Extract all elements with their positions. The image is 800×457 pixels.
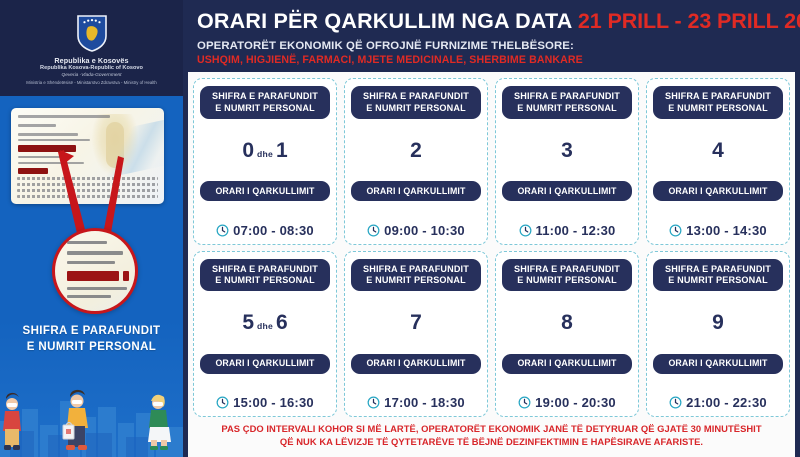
schedule-card: SHIFRA E PARAFUNDITE NUMRIT PERSONAL2ORA… <box>344 78 488 244</box>
code-label-pill: SHIFRA E PARAFUNDITE NUMRIT PERSONAL <box>502 86 632 119</box>
footer-line-2: QË NUK KA LËVIZJE TË QYTETARËVE TË BËJNË… <box>205 435 778 449</box>
digit-first: 7 <box>410 312 422 333</box>
footer-note: PAS ÇDO INTERVALI KOHOR SI MË LARTË, OPE… <box>193 417 790 455</box>
digit-first: 0 <box>242 140 254 161</box>
code-label-line2: E NUMRIT PERSONAL <box>203 275 327 286</box>
gov-ministry-line: Ministria e Shëndetësisë - Ministarstvo … <box>0 80 183 86</box>
code-label-line2: E NUMRIT PERSONAL <box>354 103 478 114</box>
government-logo-block: Republika e Kosovës Republika Kosova-Rep… <box>0 0 183 96</box>
code-label-line1: SHIFRA E PARAFUNDIT <box>505 264 629 275</box>
schedule-label-pill: ORARI I QARKULLIMIT <box>653 354 783 374</box>
code-label-pill: SHIFRA E PARAFUNDITE NUMRIT PERSONAL <box>653 259 783 292</box>
time-row: 19:00 - 20:30 <box>518 393 616 410</box>
sidebar-caption-line2: E NUMRIT PERSONAL <box>0 340 183 356</box>
schedule-label-pill: ORARI I QARKULLIMIT <box>200 181 330 201</box>
time-range: 19:00 - 20:30 <box>535 395 616 410</box>
time-row: 15:00 - 16:30 <box>216 393 314 410</box>
digit-second: 1 <box>276 140 288 161</box>
digit-first: 4 <box>712 140 724 161</box>
digit-group: 8 <box>561 310 573 334</box>
code-label-line1: SHIFRA E PARAFUNDIT <box>505 91 629 102</box>
time-row: 13:00 - 14:30 <box>669 221 767 238</box>
code-label-line2: E NUMRIT PERSONAL <box>354 275 478 286</box>
clock-icon <box>518 396 531 409</box>
code-label-line2: E NUMRIT PERSONAL <box>656 275 780 286</box>
kosovo-id-card-icon <box>11 108 164 204</box>
clock-icon <box>367 224 380 237</box>
schedule-card: SHIFRA E PARAFUNDITE NUMRIT PERSONAL7ORA… <box>344 251 488 417</box>
clock-icon <box>367 396 380 409</box>
digit-conjunction: dhe <box>257 322 273 331</box>
digit-group: 5dhe6 <box>242 310 287 334</box>
code-label-line2: E NUMRIT PERSONAL <box>656 103 780 114</box>
schedule-label-pill: ORARI I QARKULLIMIT <box>351 354 481 374</box>
poster-header: ORARI PËR QARKULLIM NGA DATA 21 PRILL - … <box>183 0 800 72</box>
digit-group: 3 <box>561 138 573 162</box>
code-label-line1: SHIFRA E PARAFUNDIT <box>354 264 478 275</box>
sidebar-caption: SHIFRA E PARAFUNDIT E NUMRIT PERSONAL <box>0 324 183 355</box>
code-label-line1: SHIFRA E PARAFUNDIT <box>656 264 780 275</box>
code-label-pill: SHIFRA E PARAFUNDITE NUMRIT PERSONAL <box>653 86 783 119</box>
digit-group: 9 <box>712 310 724 334</box>
schedule-label-pill: ORARI I QARKULLIMIT <box>200 354 330 374</box>
main-panel: ORARI PËR QARKULLIM NGA DATA 21 PRILL - … <box>183 0 800 457</box>
time-range: 21:00 - 22:30 <box>686 395 767 410</box>
schedule-label-pill: ORARI I QARKULLIMIT <box>502 181 632 201</box>
schedule-label-pill: ORARI I QARKULLIMIT <box>653 181 783 201</box>
digit-group: 0dhe1 <box>242 138 287 162</box>
time-row: 11:00 - 12:30 <box>519 221 616 238</box>
poster-root: Republika e Kosovës Republika Kosova-Rep… <box>0 0 800 457</box>
footer-line-1: PAS ÇDO INTERVALI KOHOR SI MË LARTË, OPE… <box>205 422 778 436</box>
code-label-pill: SHIFRA E PARAFUNDITE NUMRIT PERSONAL <box>200 86 330 119</box>
code-label-line1: SHIFRA E PARAFUNDIT <box>203 264 327 275</box>
digit-first: 2 <box>410 140 422 161</box>
gov-name-sr-en: Republika Kosova-Republic of Kosovo <box>0 65 183 72</box>
code-label-line1: SHIFRA E PARAFUNDIT <box>656 91 780 102</box>
schedule-label-pill: ORARI I QARKULLIMIT <box>351 181 481 201</box>
clock-icon <box>216 396 229 409</box>
code-label-line2: E NUMRIT PERSONAL <box>203 103 327 114</box>
time-range: 11:00 - 12:30 <box>536 223 616 238</box>
time-range: 13:00 - 14:30 <box>686 223 767 238</box>
schedule-label-pill: ORARI I QARKULLIMIT <box>502 354 632 374</box>
people-with-masks-city-skyline-icon <box>0 371 183 457</box>
digit-group: 4 <box>712 138 724 162</box>
schedule-card: SHIFRA E PARAFUNDITE NUMRIT PERSONAL9ORA… <box>646 251 790 417</box>
schedule-card: SHIFRA E PARAFUNDITE NUMRIT PERSONAL5dhe… <box>193 251 337 417</box>
clock-icon <box>669 396 682 409</box>
digit-first: 3 <box>561 140 573 161</box>
sidebar: Republika e Kosovës Republika Kosova-Rep… <box>0 0 183 457</box>
code-label-line2: E NUMRIT PERSONAL <box>505 275 629 286</box>
clock-icon <box>216 224 229 237</box>
page-title: ORARI PËR QARKULLIM NGA DATA 21 PRILL - … <box>197 9 786 34</box>
schedule-card: SHIFRA E PARAFUNDITE NUMRIT PERSONAL0dhe… <box>193 78 337 244</box>
title-main-text: ORARI PËR QARKULLIM NGA DATA <box>197 9 572 33</box>
time-range: 07:00 - 08:30 <box>233 223 314 238</box>
schedule-card: SHIFRA E PARAFUNDITE NUMRIT PERSONAL4ORA… <box>646 78 790 244</box>
schedule-card: SHIFRA E PARAFUNDITE NUMRIT PERSONAL3ORA… <box>495 78 639 244</box>
gov-government-line: Qeveria -Vlada-Government <box>0 73 183 79</box>
clock-icon <box>669 224 682 237</box>
time-row: 07:00 - 08:30 <box>216 221 314 238</box>
time-range: 15:00 - 16:30 <box>233 395 314 410</box>
schedule-card: SHIFRA E PARAFUNDITE NUMRIT PERSONAL8ORA… <box>495 251 639 417</box>
sidebar-blue-panel: SHIFRA E PARAFUNDIT E NUMRIT PERSONAL <box>0 96 183 457</box>
kosovo-coat-of-arms-icon <box>76 14 108 52</box>
subtitle: OPERATORËT EKONOMIK QË OFROJNË FURNIZIME… <box>197 40 786 52</box>
schedule-board: SHIFRA E PARAFUNDITE NUMRIT PERSONAL0dhe… <box>188 72 795 457</box>
code-label-pill: SHIFRA E PARAFUNDITE NUMRIT PERSONAL <box>351 259 481 292</box>
subtitle-categories: USHQIM, HIGJIENË, FARMACI, MJETE MEDICIN… <box>197 54 786 66</box>
clock-icon <box>519 224 532 237</box>
time-row: 17:00 - 18:30 <box>367 393 465 410</box>
code-label-pill: SHIFRA E PARAFUNDITE NUMRIT PERSONAL <box>502 259 632 292</box>
digit-first: 5 <box>242 312 254 333</box>
digit-conjunction: dhe <box>257 150 273 159</box>
code-label-line2: E NUMRIT PERSONAL <box>505 103 629 114</box>
title-date-range: 21 PRILL - 23 PRILL 2020 <box>578 9 800 33</box>
time-row: 21:00 - 22:30 <box>669 393 767 410</box>
magnifier-circle-icon <box>52 228 138 314</box>
digit-second: 6 <box>276 312 288 333</box>
sidebar-caption-line1: SHIFRA E PARAFUNDIT <box>0 324 183 340</box>
digit-group: 2 <box>410 138 422 162</box>
code-label-line1: SHIFRA E PARAFUNDIT <box>203 91 327 102</box>
code-label-pill: SHIFRA E PARAFUNDITE NUMRIT PERSONAL <box>351 86 481 119</box>
schedule-grid: SHIFRA E PARAFUNDITE NUMRIT PERSONAL0dhe… <box>193 78 790 416</box>
digit-first: 8 <box>561 312 573 333</box>
time-row: 09:00 - 10:30 <box>367 221 465 238</box>
code-label-pill: SHIFRA E PARAFUNDITE NUMRIT PERSONAL <box>200 259 330 292</box>
code-label-line1: SHIFRA E PARAFUNDIT <box>354 91 478 102</box>
digit-first: 9 <box>712 312 724 333</box>
digit-group: 7 <box>410 310 422 334</box>
gov-name-sq: Republika e Kosovës <box>0 56 183 65</box>
time-range: 09:00 - 10:30 <box>384 223 465 238</box>
time-range: 17:00 - 18:30 <box>384 395 465 410</box>
